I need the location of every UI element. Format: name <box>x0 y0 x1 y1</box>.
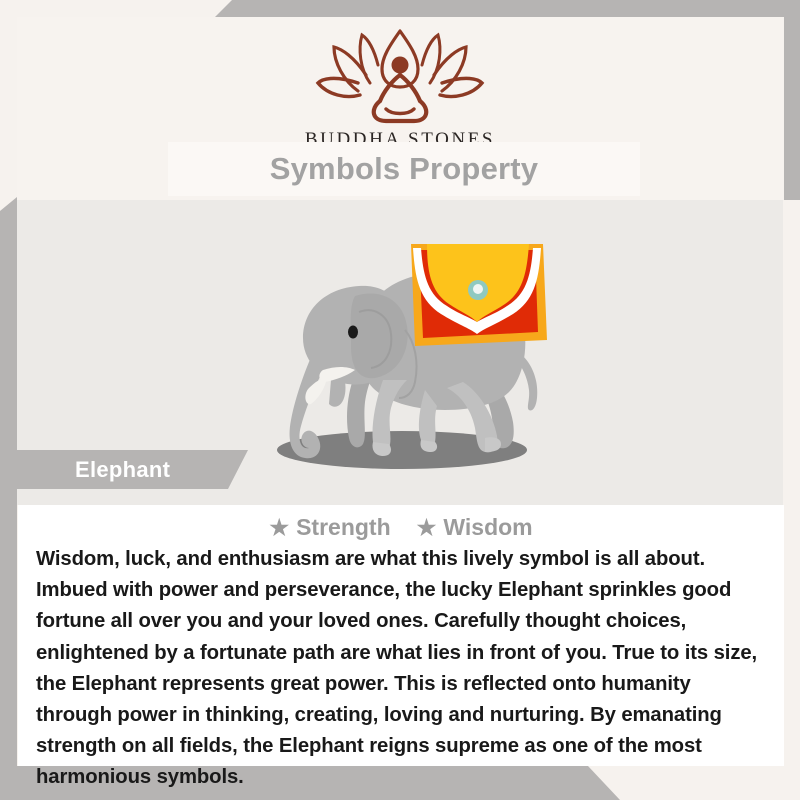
description-panel: ★ Strength ★ Wisdom Wisdom, luck, and en… <box>18 505 784 766</box>
page-title: Symbols Property <box>270 151 539 187</box>
attribute-label-strength: Strength <box>296 514 391 541</box>
attribute-list: ★ Strength ★ Wisdom <box>18 505 784 541</box>
frame-band-left <box>0 197 17 800</box>
brand-logo: BUDDHA STONES <box>17 29 783 151</box>
frame-band-right <box>784 0 800 200</box>
lotus-meditation-icon <box>312 29 488 125</box>
page-title-banner: Symbols Property <box>168 142 640 196</box>
attribute-label-wisdom: Wisdom <box>443 514 532 541</box>
description-text: Wisdom, luck, and enthusiasm are what th… <box>18 541 784 794</box>
symbol-name-label: Elephant <box>75 457 170 483</box>
walking-elephant-illustration <box>247 222 567 482</box>
attribute-item-strength: ★ Strength <box>269 514 390 541</box>
symbol-name-tag: Elephant <box>17 450 248 489</box>
star-icon: ★ <box>269 517 289 539</box>
star-icon: ★ <box>417 517 437 539</box>
elephant-eye <box>348 326 358 339</box>
frame-band-top <box>0 0 800 17</box>
attribute-item-wisdom: ★ Wisdom <box>417 514 533 541</box>
symbol-info-card: BUDDHA STONES Symbols Property <box>0 0 800 800</box>
